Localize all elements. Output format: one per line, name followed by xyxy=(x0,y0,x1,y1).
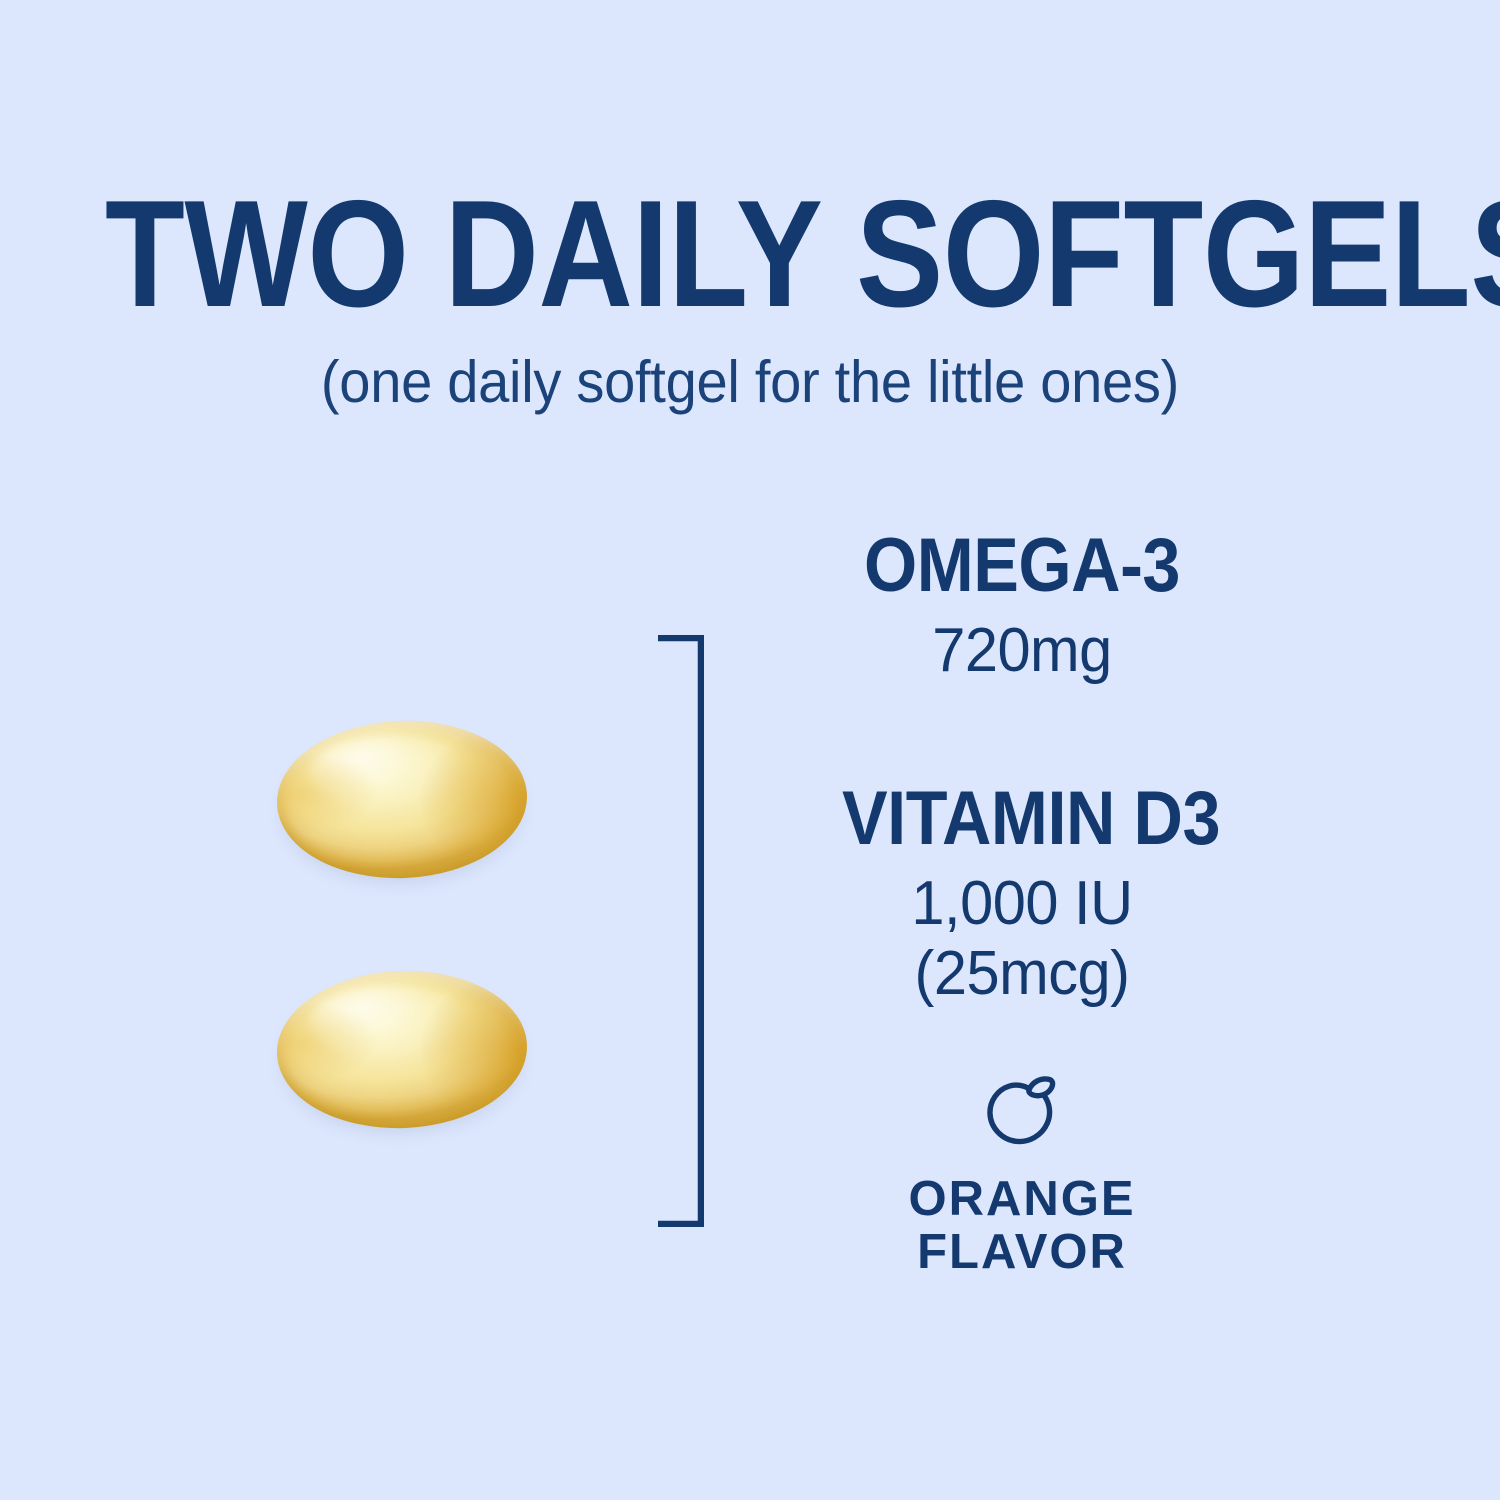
softgel-capsule xyxy=(274,716,530,882)
page-subtitle: (one daily softgel for the little ones) xyxy=(38,352,1463,414)
nutrient-dose-line: 1,000 IU xyxy=(830,869,1214,938)
flavor-label-line: ORANGE xyxy=(908,1173,1135,1225)
nutrient-omega-3: OMEGA-3 720mg xyxy=(822,528,1222,685)
flavor-callout: ORANGE FLAVOR xyxy=(822,1070,1222,1278)
softgel-capsule xyxy=(274,966,530,1132)
nutrient-name: VITAMIN D3 xyxy=(842,781,1202,857)
nutrient-dose: 720mg xyxy=(830,616,1214,685)
orange-fruit-glyph xyxy=(983,1070,1061,1152)
orange-fruit-icon xyxy=(983,1070,1061,1157)
nutrient-dose-line: (25mcg) xyxy=(830,939,1214,1008)
page-title: TWO DAILY SOFTGELS xyxy=(105,178,1395,330)
flavor-label: ORANGE FLAVOR xyxy=(908,1173,1135,1278)
infographic-canvas: TWO DAILY SOFTGELS (one daily softgel fo… xyxy=(0,0,1500,1500)
grouping-bracket xyxy=(658,635,704,1227)
nutrient-dose: 1,000 IU (25mcg) xyxy=(830,869,1214,1008)
nutrient-vitamin-d3: VITAMIN D3 1,000 IU (25mcg) xyxy=(822,781,1222,1008)
nutrient-name: OMEGA-3 xyxy=(842,528,1202,604)
bracket-icon xyxy=(658,635,704,1227)
flavor-label-line: FLAVOR xyxy=(908,1226,1135,1278)
nutrient-facts-list: OMEGA-3 720mg VITAMIN D3 1,000 IU (25mcg… xyxy=(822,528,1222,1278)
